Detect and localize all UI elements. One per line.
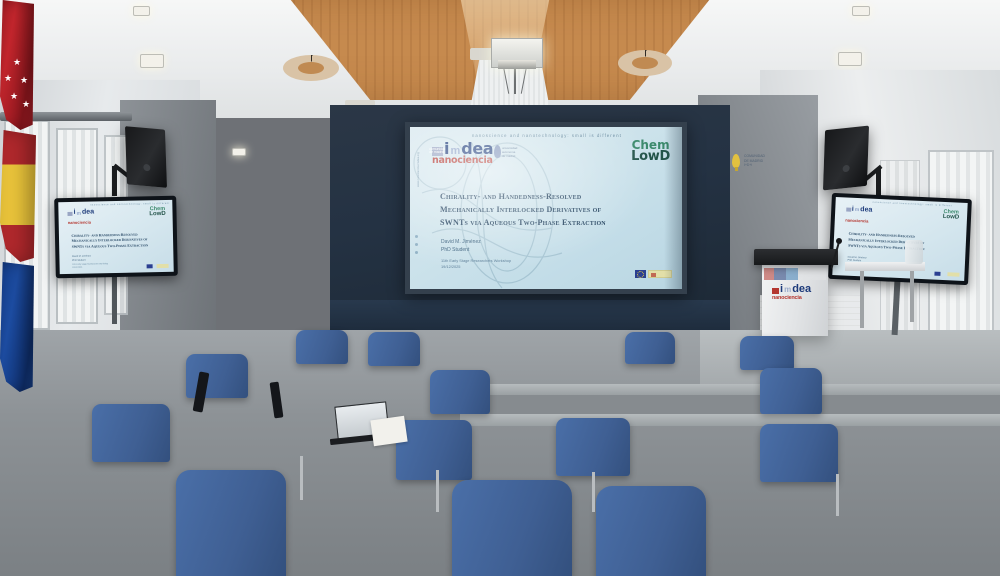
chair[interactable]	[596, 486, 706, 576]
wall-sign-text: COMUNIDAD DE MADRID I+D+i	[744, 154, 765, 169]
eu-flag-icon	[147, 265, 153, 269]
lectern-top-surface	[754, 249, 838, 265]
gobierno-de-espana-badge	[157, 264, 169, 268]
slide-sidebar-url: www.nanociencia.imdea.org	[416, 152, 420, 187]
right-confidence-monitor[interactable]: nanoscience and nanotechnology: small is…	[828, 193, 972, 285]
lightbulb-icon	[732, 154, 740, 168]
slide-event-mini: 11th Early Stage Researchers Workshop 19…	[72, 263, 108, 270]
uam-logo-text: universidad autónoma de madrid	[502, 145, 517, 158]
chair[interactable]	[296, 330, 348, 364]
imdea-logo: comunidad de madrid i m dea nanociencia	[432, 143, 493, 166]
gobierno-de-espana-badge	[947, 272, 959, 277]
chair-leg	[436, 470, 439, 512]
flag-eu: ★ ★ ★ ★ ★ ★ ★ ★ ★	[0, 262, 34, 392]
slide-author-mini: David M. Jiménez PhD Student	[72, 255, 91, 263]
monitor-screen: nanoscience and nanotechnology: small is…	[58, 200, 173, 274]
water-jug	[905, 240, 923, 264]
slide-event-block: 11th Early Stage Researchers Workshop 19…	[441, 258, 511, 270]
speaker-bracket	[112, 166, 117, 196]
chair-leg	[836, 474, 839, 516]
slide-title-mini: Chirality- and Handedness-Resolved Mecha…	[848, 232, 956, 254]
chemlowd-logo-mini: Chem LowD	[943, 210, 960, 221]
chair[interactable]	[760, 424, 838, 482]
left-confidence-monitor[interactable]: nanoscience and nanotechnology: small is…	[54, 196, 178, 279]
slide-title: Chirality- and Handedness-Resolved Mecha…	[440, 190, 658, 229]
step-edge	[440, 384, 1000, 395]
projector-lens-icon	[498, 60, 536, 69]
chemlowd-logo-mini: Chem LowD	[149, 207, 166, 218]
air-vent-icon	[618, 50, 672, 76]
chair[interactable]	[396, 420, 472, 480]
uam-logo: universidad autónoma de madrid	[494, 145, 517, 158]
screen-vignette	[664, 127, 682, 289]
madrid-badge-icon	[772, 288, 779, 294]
step-riser	[440, 395, 1000, 414]
chair-leg	[592, 472, 595, 512]
air-vent-icon	[283, 55, 339, 81]
lectern-imdea-logo: i m dea nanociencia	[772, 285, 811, 301]
projection-screen: nanoscience and nanotechnology: small is…	[405, 122, 687, 294]
wall-sign-comunidad-madrid: COMUNIDAD DE MADRID I+D+i	[732, 148, 814, 174]
microphone-icon	[836, 238, 842, 244]
chair[interactable]	[625, 332, 675, 364]
slide-surface: nanoscience and nanotechnology: small is…	[410, 127, 682, 289]
ceiling-downlight	[140, 54, 164, 68]
eu-flag-icon	[635, 270, 646, 278]
madrid-badge-icon	[68, 211, 73, 215]
wall-speaker-right	[823, 126, 869, 191]
step-edge	[460, 414, 1000, 426]
lectern-stripe-graphic	[764, 268, 826, 280]
ceiling-downlight	[133, 6, 150, 16]
flag-spain	[0, 130, 36, 262]
monitor-stand-left	[112, 276, 117, 324]
table-leg	[910, 270, 914, 322]
flag-madrid: ★ ★ ★ ★ ★	[0, 0, 34, 130]
chair-leg	[300, 456, 303, 500]
chair[interactable]	[740, 336, 794, 370]
chair[interactable]	[452, 480, 572, 576]
slide-sidebar-dots	[415, 235, 418, 259]
chair[interactable]	[368, 332, 420, 366]
imdea-logo-mini: i m dea	[68, 209, 95, 215]
chair[interactable]	[760, 368, 822, 414]
wall-speaker-left	[125, 126, 167, 188]
speaker-bracket	[876, 168, 881, 198]
chair[interactable]	[92, 404, 170, 462]
slide-title-mini: Chirality- and Handedness-Resolved Mecha…	[71, 232, 164, 251]
chair[interactable]	[176, 470, 286, 576]
imdea-logo-mini: i m dea	[846, 206, 873, 213]
slide-author-block: David M. Jiménez PhD Student	[441, 239, 481, 254]
auditorium-room: COMUNIDAD DE MADRID I+D+i ★ ★ ★ ★ ★ ★ ★ …	[0, 0, 1000, 576]
ceiling-downlight	[852, 6, 870, 16]
uam-mark-icon	[494, 145, 501, 158]
handout-paper[interactable]	[370, 416, 407, 446]
ceiling-downlight	[232, 148, 246, 156]
table-leg	[860, 270, 864, 328]
screenshot-root: COMUNIDAD DE MADRID I+D+i ★ ★ ★ ★ ★ ★ ★ …	[0, 0, 1000, 576]
ceiling-downlight	[838, 52, 862, 66]
eu-flag-icon	[935, 272, 941, 276]
chair[interactable]	[430, 370, 490, 414]
madrid-badge-icon	[846, 208, 851, 212]
chair[interactable]	[556, 418, 630, 476]
